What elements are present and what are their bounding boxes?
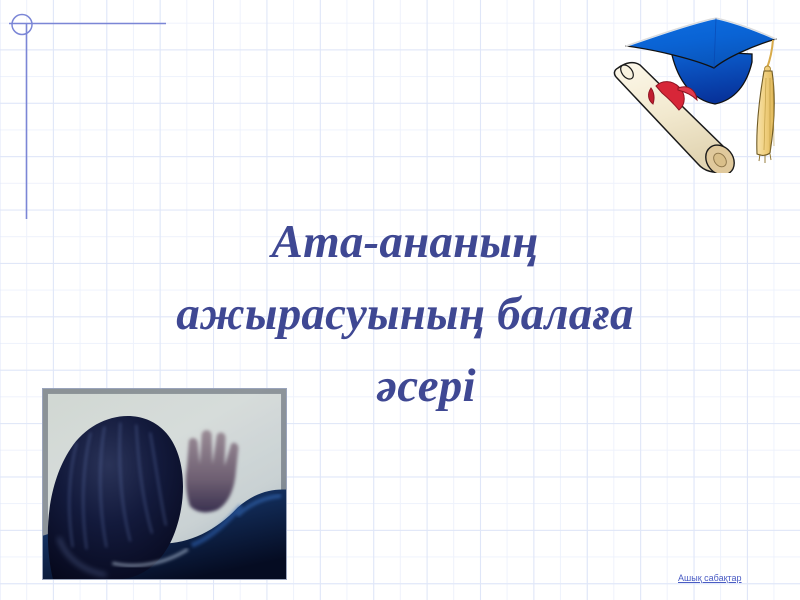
graduation-cap-and-diploma-image: [600, 8, 800, 173]
graduation-cap-icon: [600, 8, 800, 173]
cap-mortarboard: [626, 18, 776, 68]
cap-tassel: [757, 40, 774, 163]
corner-loop-icon: [12, 15, 32, 35]
corner-bracket-decoration: [0, 0, 200, 240]
corner-bracket-icon: [0, 0, 200, 240]
child-silhouette-photo: [42, 388, 287, 580]
presentation-slide: Ата-ананың ажырасуының балаға әсері: [0, 0, 800, 600]
title-line-2: ажырасуының балаға: [60, 278, 750, 350]
title-line-1: Ата-ананың: [60, 206, 750, 278]
footer-watermark-link[interactable]: Ашық сабақтар: [678, 573, 742, 584]
child-silhouette-illustration: [43, 389, 286, 579]
